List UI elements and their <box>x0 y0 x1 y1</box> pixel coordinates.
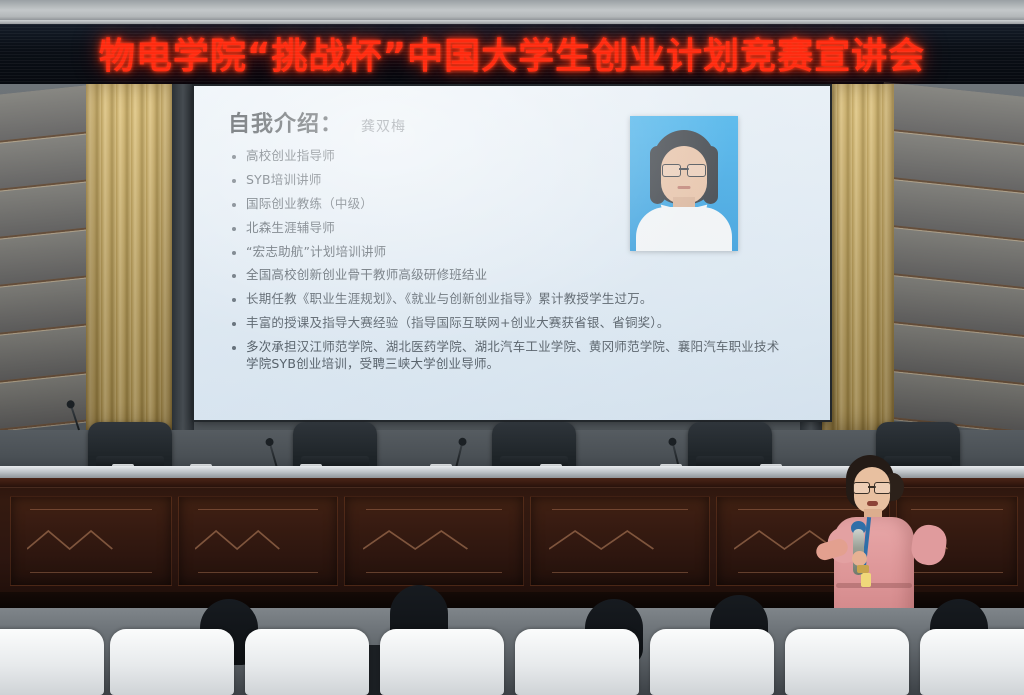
audience-area <box>0 608 1024 695</box>
badge <box>861 573 871 587</box>
wood-panel-right <box>894 84 1024 430</box>
list-item <box>515 629 639 695</box>
list-item <box>380 629 504 695</box>
speaker-hand <box>852 551 867 566</box>
lecture-hall-photo: 物电学院“挑战杯”中国大学生创业计划竞赛宣讲会 自我介绍： 龚双梅 <box>0 0 1024 695</box>
glasses-icon <box>662 164 706 175</box>
table-panel <box>178 496 338 586</box>
presenter-portrait-photo <box>630 116 738 251</box>
list-item <box>920 629 1024 695</box>
screen-trim-left <box>172 84 194 430</box>
list-item <box>650 629 774 695</box>
list-item: 长期任教《职业生涯规划》、《就业与创新创业指导》累计教授学生过万。 <box>230 291 780 308</box>
table-panel <box>530 496 710 586</box>
list-item: 多次承担汉江师范学院、湖北医药学院、湖北汽车工业学院、黄冈师范学院、襄阳汽车职业… <box>230 339 780 373</box>
list-item: 丰富的授课及指导大赛经验（指导国际互联网+创业大赛获省银、省铜奖）。 <box>230 315 780 332</box>
list-item <box>110 629 234 695</box>
glasses-icon <box>853 482 891 492</box>
curtain-left <box>86 84 172 430</box>
list-item <box>0 629 104 695</box>
table-panel <box>10 496 172 586</box>
projection-screen: 自我介绍： 龚双梅 高校创业指导师 SYB培训讲师 国际创业教练（中级） 北森生… <box>194 86 830 420</box>
curtain-right <box>822 84 894 430</box>
list-item: 全国高校创新创业骨干教师高级研修班结业 <box>230 267 780 284</box>
led-banner-text: 物电学院“挑战杯”中国大学生创业计划竞赛宣讲会 <box>99 27 925 79</box>
wristwatch <box>857 565 869 573</box>
table-panel <box>344 496 524 586</box>
presentation-slide: 自我介绍： 龚双梅 高校创业指导师 SYB培训讲师 国际创业教练（中级） 北森生… <box>194 86 830 420</box>
ceiling <box>0 0 1024 22</box>
led-banner: 物电学院“挑战杯”中国大学生创业计划竞赛宣讲会 <box>0 24 1024 84</box>
slide-title: 自我介绍： <box>228 106 343 138</box>
list-item <box>785 629 909 695</box>
wood-panel-left <box>0 84 86 430</box>
list-item <box>245 629 369 695</box>
presenter-name: 龚双梅 <box>361 116 406 136</box>
